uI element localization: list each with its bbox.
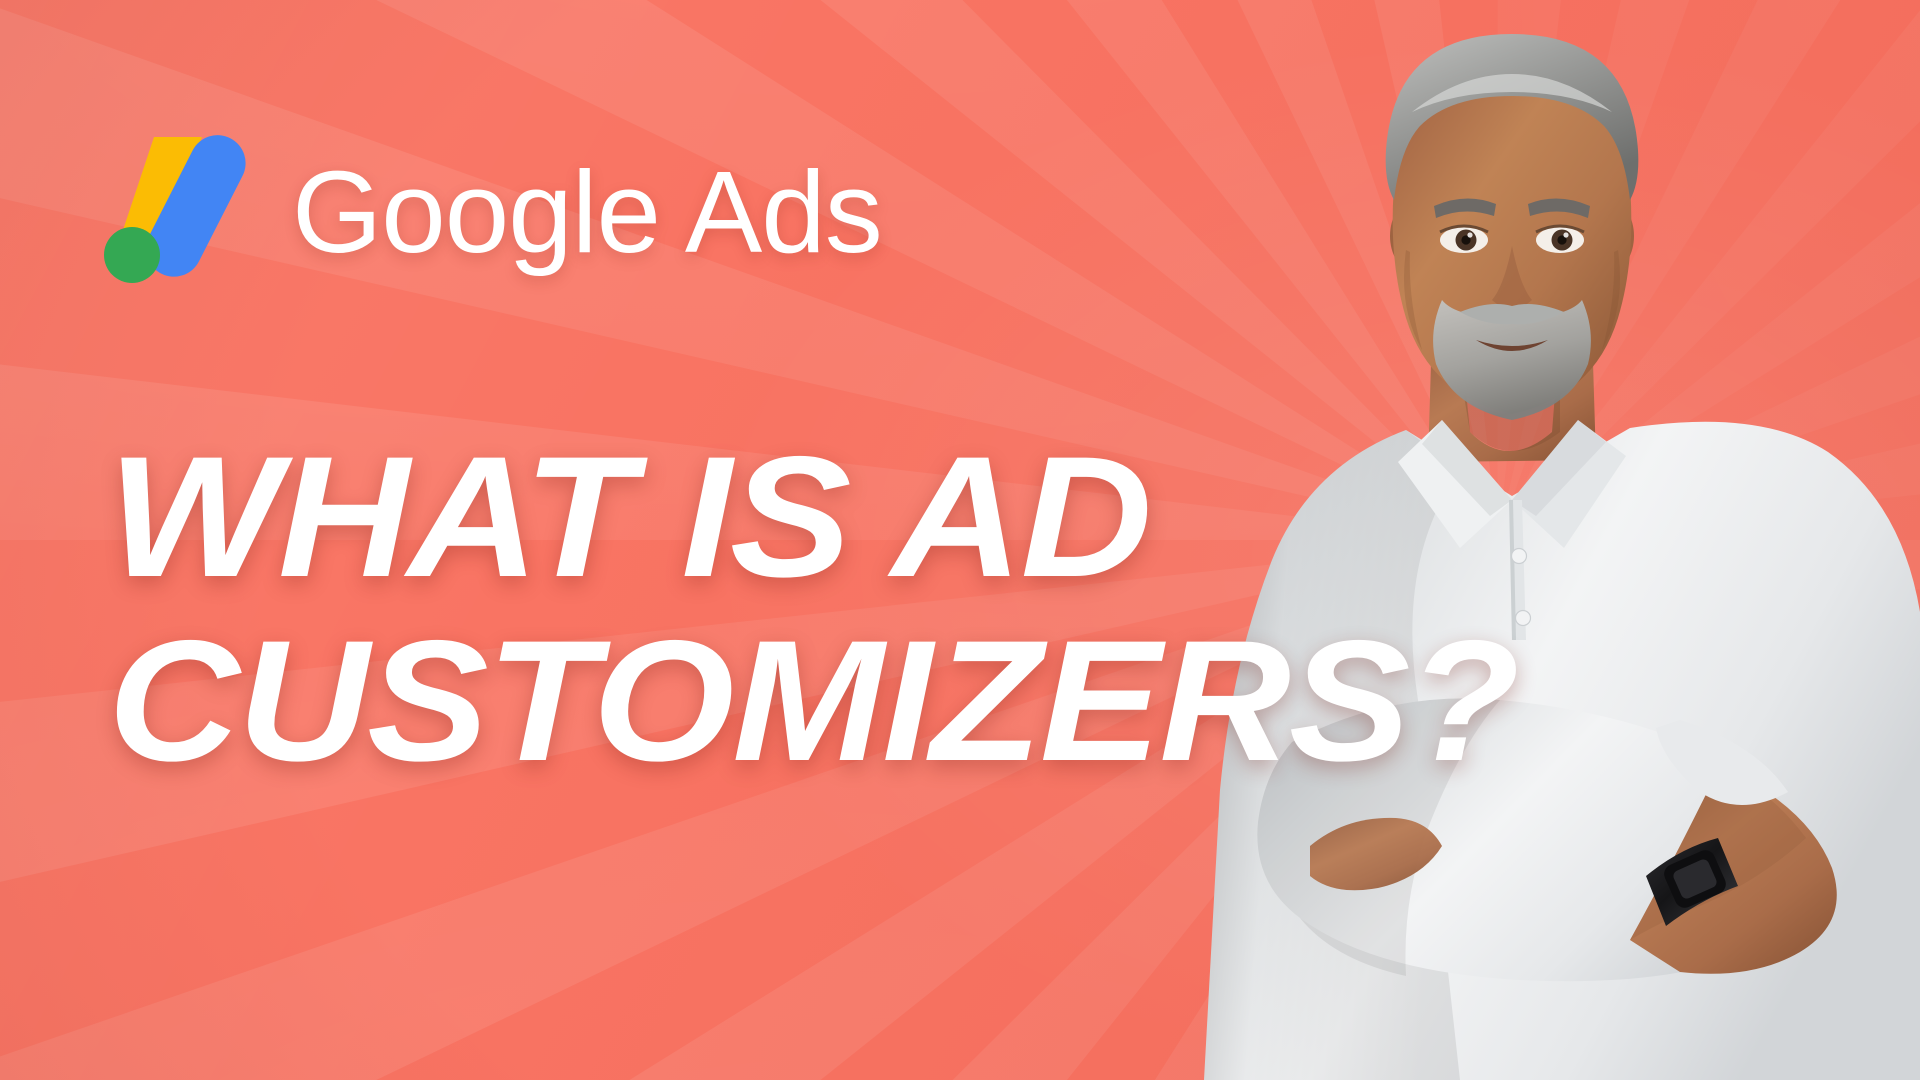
headline-line-2: CUSTOMIZERS? <box>108 616 1698 786</box>
google-ads-logo-mark <box>96 129 266 287</box>
thumbnail-headline: WHAT IS AD CUSTOMIZERS? <box>108 432 1608 787</box>
thumbnail-canvas: Google Ads WHAT IS AD CUSTOMIZERS? <box>0 0 1920 1080</box>
headline-line-1: WHAT IS AD <box>108 432 1698 602</box>
google-ads-lockup: Google Ads <box>96 128 882 288</box>
google-ads-wordmark: Google Ads <box>292 154 882 270</box>
head <box>1386 34 1639 420</box>
